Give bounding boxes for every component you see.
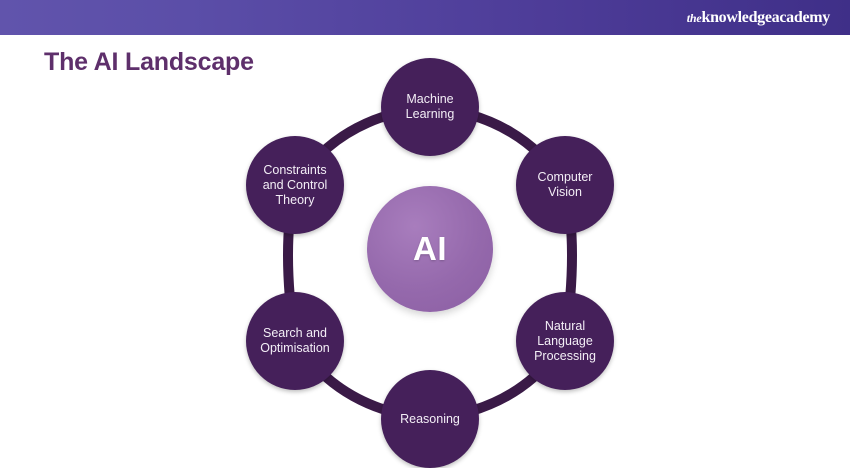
brand-logo-the: the [687,11,702,26]
node-search-and-optimisation-label: Search and Optimisation [260,326,329,356]
node-reasoning-label: Reasoning [400,412,460,427]
header-bar: theknowledgeacademy [0,0,850,35]
node-ai-center-label: AI [413,230,447,268]
brand-logo-name: knowledgeacademy [701,9,830,27]
node-ai-center[interactable]: AI [367,186,493,312]
node-natural-language-processing-label: Natural Language Processing [534,319,596,364]
node-computer-vision-label: Computer Vision [538,170,593,200]
node-reasoning[interactable]: Reasoning [381,370,479,468]
node-machine-learning-label: Machine Learning [406,92,455,122]
ai-landscape-diagram: Machine Learning Computer Vision Natural… [215,48,645,448]
node-natural-language-processing[interactable]: Natural Language Processing [516,292,614,390]
node-constraints-and-control-theory[interactable]: Constraints and Control Theory [246,136,344,234]
node-constraints-and-control-theory-label: Constraints and Control Theory [263,163,328,208]
node-computer-vision[interactable]: Computer Vision [516,136,614,234]
node-search-and-optimisation[interactable]: Search and Optimisation [246,292,344,390]
node-machine-learning[interactable]: Machine Learning [381,58,479,156]
brand-logo: theknowledgeacademy [687,9,830,27]
